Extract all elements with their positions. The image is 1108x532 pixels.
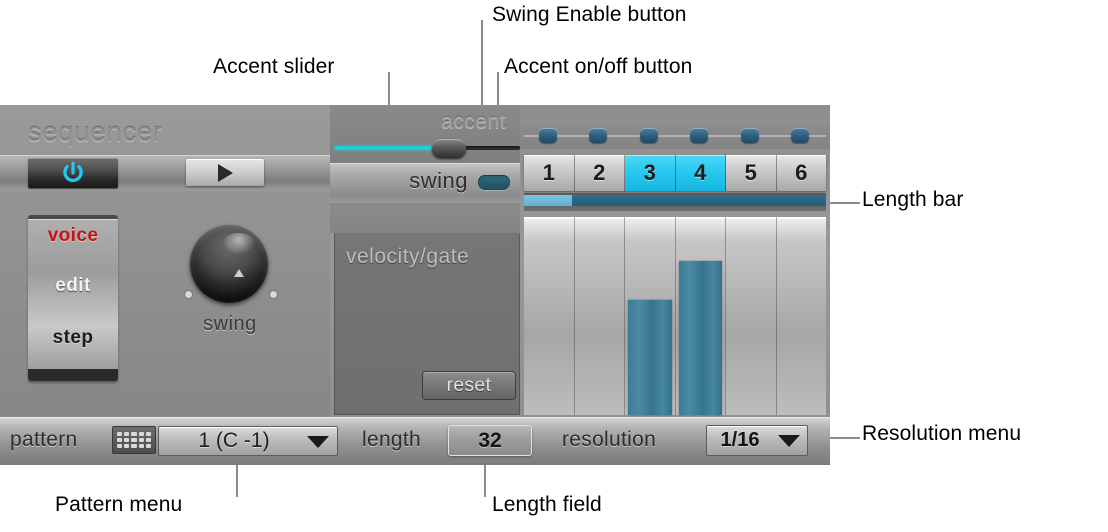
chevron-down-icon <box>778 435 800 447</box>
left-control-column: sequencer voice edit step <box>0 105 330 417</box>
keyboard-icon-dot <box>117 432 122 436</box>
keyboard-icon[interactable] <box>112 426 156 454</box>
length-bar[interactable] <box>524 193 826 211</box>
velocity-gate-label: velocity/gate <box>346 245 469 269</box>
annotation-accent-onoff: Accent on/off button <box>504 55 692 79</box>
velocity-column-5[interactable] <box>726 217 777 415</box>
swing-row: swing <box>330 163 520 203</box>
length-bar-head[interactable] <box>524 195 572 206</box>
accent-dot[interactable] <box>690 128 708 143</box>
annotation-resolution-menu: Resolution menu <box>862 422 1021 446</box>
accent-dot[interactable] <box>640 128 658 143</box>
length-label: length <box>362 428 421 452</box>
step-button-6[interactable]: 6 <box>777 155 827 191</box>
keyboard-icon-dot <box>146 438 151 442</box>
velocity-gate-panel: velocity/gate reset <box>334 233 520 415</box>
length-field[interactable]: 32 <box>448 425 532 456</box>
pattern-menu[interactable]: 1 (C -1) <box>158 426 338 456</box>
keyboard-icon-dot <box>139 432 144 436</box>
resolution-label: resolution <box>562 428 656 452</box>
step-button-5[interactable]: 5 <box>726 155 777 191</box>
accent-dot[interactable] <box>589 128 607 143</box>
bottom-bar: pattern 1 (C -1) length 32 resolution 1/… <box>0 417 830 465</box>
pattern-label: pattern <box>10 428 77 452</box>
step-button-4[interactable]: 4 <box>676 155 727 191</box>
step-button-1[interactable]: 1 <box>524 155 575 191</box>
accent-slider-thumb[interactable] <box>432 139 466 158</box>
keyboard-icon-dot <box>117 444 122 448</box>
swing-knob[interactable] <box>190 225 268 303</box>
accent-row: accent <box>330 105 520 163</box>
sequencer-plugin-window: sequencer voice edit step <box>0 105 830 465</box>
page-title: sequencer <box>28 117 163 148</box>
keyboard-icon-dot <box>117 438 122 442</box>
swing-label: swing <box>409 168 468 194</box>
mode-option-edit[interactable]: edit <box>28 275 118 297</box>
accent-dot[interactable] <box>539 128 557 143</box>
keyboard-icon-dot <box>124 444 129 448</box>
annotation-accent-slider: Accent slider <box>213 55 335 79</box>
middle-column: accent swing velocity/gate reset <box>330 105 520 417</box>
step-number-row: 1 2 3 4 5 6 <box>524 155 826 191</box>
velocity-grid[interactable] <box>524 217 826 415</box>
accent-slider-fill <box>334 146 446 150</box>
velocity-column-2[interactable] <box>575 217 626 415</box>
swing-enable-button[interactable] <box>478 175 510 190</box>
chevron-down-icon <box>307 436 329 448</box>
step-button-2[interactable]: 2 <box>575 155 626 191</box>
keyboard-icon-dot <box>124 438 129 442</box>
keyboard-icon-dot <box>131 438 136 442</box>
accent-dots-row <box>520 123 830 149</box>
leader-length-bar <box>826 202 860 204</box>
accent-label: accent <box>441 110 506 134</box>
knob-max-dot <box>270 291 277 298</box>
velocity-column-4[interactable] <box>676 217 727 415</box>
annotation-length-bar: Length bar <box>862 188 963 212</box>
annotation-pattern-menu: Pattern menu <box>55 493 182 517</box>
velocity-column-6[interactable] <box>777 217 827 415</box>
reset-button-label: reset <box>447 375 492 397</box>
power-button[interactable] <box>28 158 118 188</box>
keyboard-icon-dot <box>131 432 136 436</box>
accent-slider[interactable] <box>334 140 520 156</box>
transport-strip <box>0 155 330 191</box>
velocity-bar[interactable] <box>679 261 723 415</box>
accent-dots-rail <box>524 135 826 137</box>
keyboard-icon-dot <box>139 438 144 442</box>
knob-pointer-icon <box>234 269 244 277</box>
knob-gloss <box>222 233 256 255</box>
mode-option-step[interactable]: step <box>28 327 118 349</box>
reset-button[interactable]: reset <box>422 371 516 400</box>
velocity-column-3[interactable] <box>625 217 676 415</box>
keyboard-icon-dot <box>124 432 129 436</box>
resolution-menu-value: 1/16 <box>711 429 769 452</box>
annotation-length-field: Length field <box>492 493 602 517</box>
resolution-menu[interactable]: 1/16 <box>706 425 808 456</box>
pattern-menu-value: 1 (C -1) <box>159 429 309 453</box>
keyboard-icon-dot <box>146 432 151 436</box>
accent-dot[interactable] <box>791 128 809 143</box>
length-field-value: 32 <box>478 429 501 453</box>
keyboard-icon-dot <box>139 444 144 448</box>
play-button[interactable] <box>186 159 264 186</box>
step-button-3[interactable]: 3 <box>625 155 676 191</box>
accent-dot[interactable] <box>741 128 759 143</box>
power-icon <box>60 160 86 186</box>
velocity-column-1[interactable] <box>524 217 575 415</box>
annotation-swing-enable: Swing Enable button <box>492 3 687 27</box>
swing-knob-group: swing <box>180 225 280 345</box>
swing-knob-label: swing <box>180 313 280 336</box>
middle-spacer <box>330 203 520 233</box>
play-icon <box>218 164 233 182</box>
step-column: 1 2 3 4 5 6 <box>520 105 830 417</box>
knob-min-dot <box>185 291 192 298</box>
keyboard-icon-dot <box>146 444 151 448</box>
mode-option-voice[interactable]: voice <box>28 225 118 247</box>
leader-pattern-menu <box>236 463 238 497</box>
mode-switch[interactable]: voice edit step <box>28 215 118 381</box>
keyboard-icon-dot <box>131 444 136 448</box>
velocity-bar[interactable] <box>628 300 672 415</box>
leader-length-field <box>484 463 486 497</box>
